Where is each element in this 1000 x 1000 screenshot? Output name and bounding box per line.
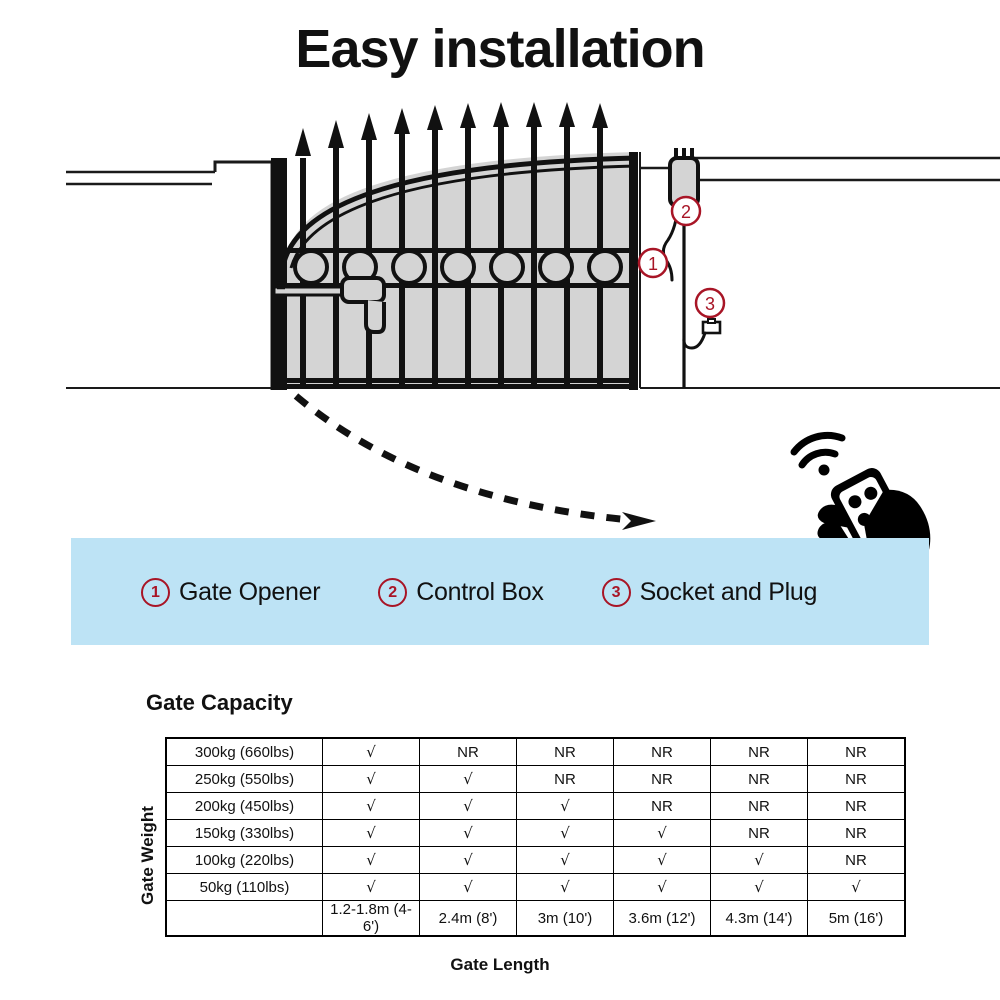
weight-label-cell: 150kg (330lbs) — [166, 820, 323, 847]
footer-blank-cell — [166, 901, 323, 937]
table-row: 300kg (660lbs)√NRNRNRNRNR — [166, 738, 905, 766]
cell-supported-check: √ — [420, 793, 517, 820]
cell-supported-check: √ — [711, 874, 808, 901]
svg-text:3: 3 — [705, 294, 715, 314]
cell-not-recommended: NR — [517, 766, 614, 793]
weight-label-cell: 200kg (450lbs) — [166, 793, 323, 820]
cell-not-recommended: NR — [711, 766, 808, 793]
cell-not-recommended: NR — [808, 793, 906, 820]
svg-text:2: 2 — [681, 202, 691, 222]
cell-supported-check: √ — [420, 874, 517, 901]
legend-band: 1 Gate Opener 2 Control Box 3 Socket and… — [71, 538, 929, 645]
cell-supported-check: √ — [614, 820, 711, 847]
length-header-cell: 1.2-1.8m (4-6') — [323, 901, 420, 937]
cell-not-recommended: NR — [711, 793, 808, 820]
cell-not-recommended: NR — [808, 738, 906, 766]
table-row: 250kg (550lbs)√√NRNRNRNR — [166, 766, 905, 793]
gate-weight-axis-label: Gate Weight — [138, 806, 158, 905]
legend-marker-2-icon: 2 — [378, 578, 407, 607]
table-row: 150kg (330lbs)√√√√NRNR — [166, 820, 905, 847]
cell-not-recommended: NR — [711, 738, 808, 766]
length-header-cell: 5m (16') — [808, 901, 906, 937]
cell-supported-check: √ — [614, 874, 711, 901]
marker-1: 1 — [639, 249, 667, 277]
table-row: 50kg (110lbs)√√√√√√ — [166, 874, 905, 901]
cell-supported-check: √ — [614, 847, 711, 874]
dashed-swing-arrow — [296, 396, 656, 530]
legend-item-gate-opener: 1 Gate Opener — [141, 578, 320, 607]
length-header-cell: 3m (10') — [517, 901, 614, 937]
gate-panel — [271, 102, 638, 390]
cell-not-recommended: NR — [808, 766, 906, 793]
legend-item-socket-plug: 3 Socket and Plug — [602, 578, 818, 607]
marker-2: 2 — [672, 197, 700, 225]
table-row: 200kg (450lbs)√√√NRNRNR — [166, 793, 905, 820]
page-title: Easy installation — [0, 22, 1000, 76]
cell-supported-check: √ — [517, 847, 614, 874]
cell-not-recommended: NR — [614, 793, 711, 820]
legend-label-3: Socket and Plug — [640, 578, 818, 607]
legend-label-2: Control Box — [416, 578, 543, 607]
cell-supported-check: √ — [711, 847, 808, 874]
cell-supported-check: √ — [420, 820, 517, 847]
length-header-cell: 3.6m (12') — [614, 901, 711, 937]
cell-supported-check: √ — [420, 766, 517, 793]
gate-capacity-table: 300kg (660lbs)√NRNRNRNRNR250kg (550lbs)√… — [165, 737, 906, 937]
left-wall — [66, 162, 272, 390]
length-header-cell: 4.3m (14') — [711, 901, 808, 937]
weight-label-cell: 100kg (220lbs) — [166, 847, 323, 874]
weight-label-cell: 300kg (660lbs) — [166, 738, 323, 766]
cell-supported-check: √ — [323, 820, 420, 847]
cell-supported-check: √ — [323, 874, 420, 901]
legend-list: 1 Gate Opener 2 Control Box 3 Socket and… — [141, 578, 875, 607]
cell-supported-check: √ — [323, 738, 420, 766]
table-body: 300kg (660lbs)√NRNRNRNRNR250kg (550lbs)√… — [166, 738, 905, 936]
cell-not-recommended: NR — [614, 738, 711, 766]
legend-item-control-box: 2 Control Box — [378, 578, 543, 607]
cell-not-recommended: NR — [517, 738, 614, 766]
cell-not-recommended: NR — [808, 847, 906, 874]
legend-marker-1-icon: 1 — [141, 578, 170, 607]
cell-not-recommended: NR — [808, 820, 906, 847]
cell-not-recommended: NR — [614, 766, 711, 793]
legend-label-1: Gate Opener — [179, 578, 320, 607]
table-row: 100kg (220lbs)√√√√√NR — [166, 847, 905, 874]
weight-label-cell: 250kg (550lbs) — [166, 766, 323, 793]
gate-capacity-heading: Gate Capacity — [146, 690, 293, 716]
marker-3: 3 — [696, 289, 724, 317]
control-box-device — [663, 148, 698, 388]
cell-supported-check: √ — [808, 874, 906, 901]
poster-root: Easy installation — [0, 0, 1000, 1000]
length-header-cell: 2.4m (8') — [420, 901, 517, 937]
table-footer-row: 1.2-1.8m (4-6')2.4m (8')3m (10')3.6m (12… — [166, 901, 905, 937]
cell-supported-check: √ — [323, 847, 420, 874]
cell-supported-check: √ — [517, 793, 614, 820]
cell-supported-check: √ — [517, 820, 614, 847]
cell-supported-check: √ — [420, 847, 517, 874]
socket-plug-device — [684, 319, 720, 348]
cell-supported-check: √ — [323, 766, 420, 793]
svg-text:1: 1 — [648, 254, 658, 274]
legend-marker-3-icon: 3 — [602, 578, 631, 607]
cell-not-recommended: NR — [420, 738, 517, 766]
cell-supported-check: √ — [323, 793, 420, 820]
cell-not-recommended: NR — [711, 820, 808, 847]
gate-length-axis-label: Gate Length — [0, 955, 1000, 975]
weight-label-cell: 50kg (110lbs) — [166, 874, 323, 901]
cell-supported-check: √ — [517, 874, 614, 901]
